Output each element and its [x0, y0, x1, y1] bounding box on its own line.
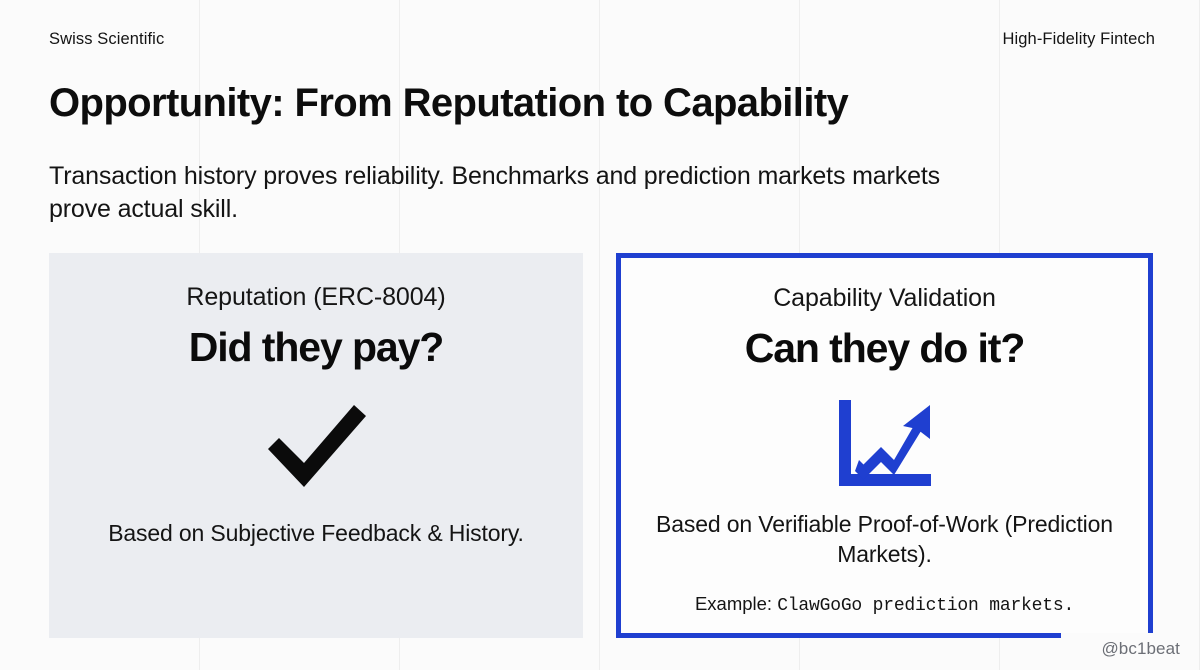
page-title: Opportunity: From Reputation to Capabili… [49, 82, 848, 125]
card-reputation-description: Based on Subjective Feedback & History. [108, 519, 524, 549]
card-capability-example-prefix: Example: [695, 593, 772, 614]
page-subtitle: Transaction history proves reliability. … [49, 160, 949, 227]
card-capability-question: Can they do it? [745, 327, 1025, 370]
card-reputation-question: Did they pay? [189, 326, 444, 369]
card-capability-description: Based on Verifiable Proof-of-Work (Predi… [641, 510, 1128, 570]
brand-left-label: Swiss Scientific [49, 30, 164, 49]
card-reputation-kicker: Reputation (ERC-8004) [186, 283, 445, 312]
card-capability-kicker: Capability Validation [773, 284, 996, 313]
card-capability-example: Example: ClawGoGo prediction markets. [695, 592, 1074, 618]
header-eyebrow-row: Swiss Scientific High-Fidelity Fintech [49, 30, 1155, 49]
slide-content: Swiss Scientific High-Fidelity Fintech O… [0, 0, 1200, 670]
card-capability-example-value: ClawGoGo prediction markets. [777, 596, 1074, 616]
chart-trending-up-icon [833, 396, 937, 492]
checkmark-icon [262, 395, 370, 491]
brand-right-label: High-Fidelity Fintech [1003, 30, 1156, 49]
watermark-handle: @bc1beat [1101, 639, 1180, 659]
card-reputation: Reputation (ERC-8004) Did they pay? Base… [49, 253, 583, 638]
card-capability: Capability Validation Can they do it? Ba… [616, 253, 1153, 638]
slide-root: Swiss Scientific High-Fidelity Fintech O… [0, 0, 1200, 670]
